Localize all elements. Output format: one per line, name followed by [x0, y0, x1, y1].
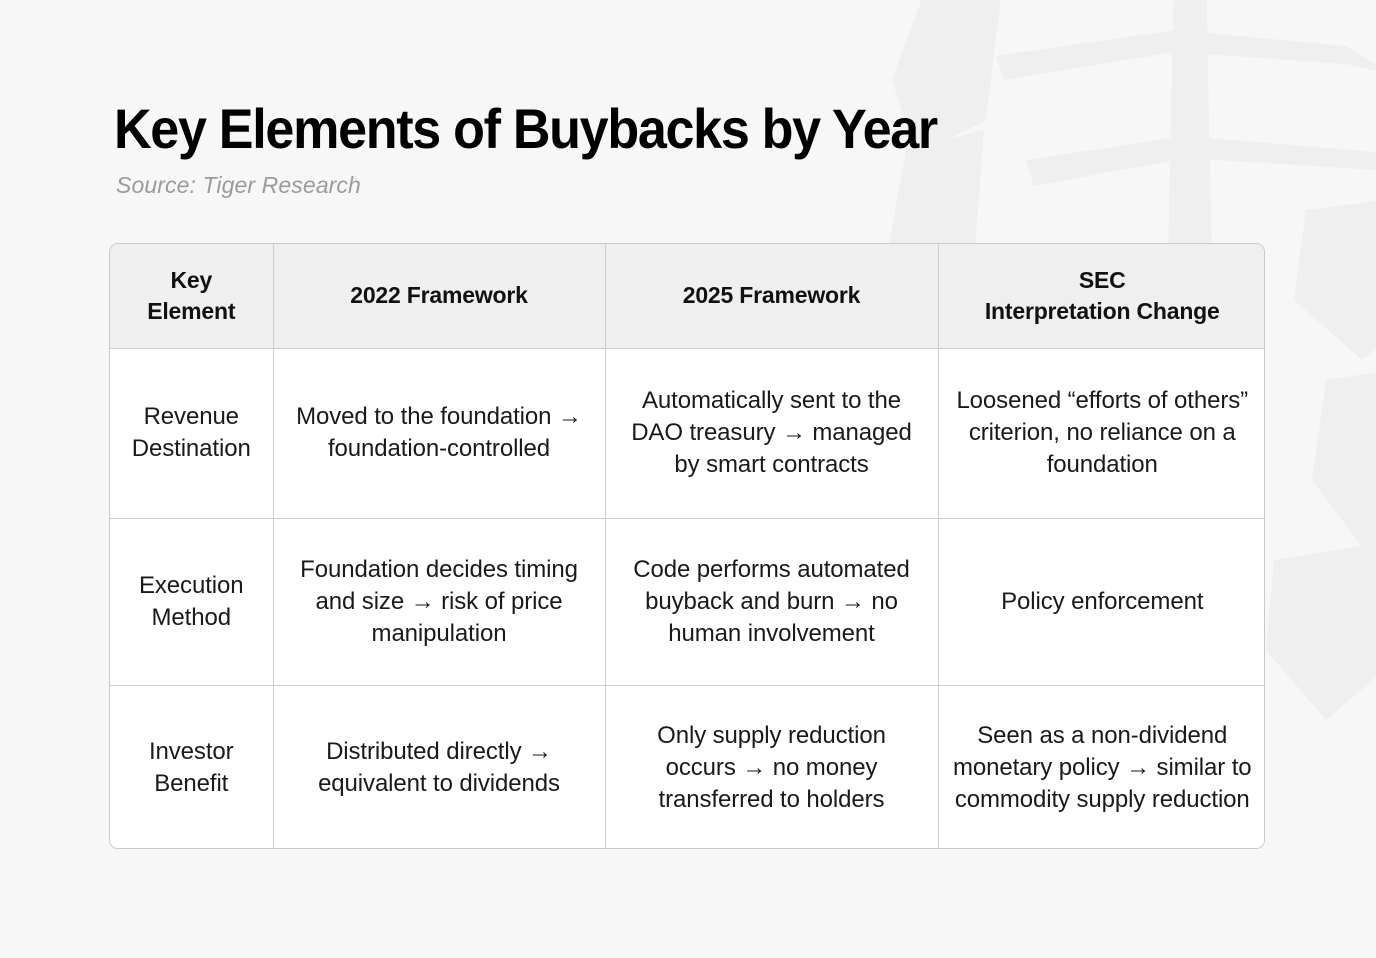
- cell-framework-2022: Foundation decides timing and size → ris…: [273, 518, 605, 685]
- page-title: Key Elements of Buybacks by Year: [114, 98, 1184, 160]
- cell-framework-2022: Moved to the foundation → foundation-con…: [273, 348, 605, 518]
- column-header-key-element-line2: Element: [147, 298, 235, 324]
- cell-key-element: Investor Benefit: [110, 685, 273, 849]
- table-row: Execution Method Foundation decides timi…: [110, 518, 1265, 685]
- cell-framework-2025: Code performs automated buyback and burn…: [605, 518, 938, 685]
- cell-framework-2025: Only supply reduction occurs → no money …: [605, 685, 938, 849]
- cell-sec-change: Loosened “efforts of others” criterion, …: [938, 348, 1265, 518]
- table-header: Key Element 2022 Framework 2025 Framewor…: [110, 244, 1265, 348]
- cell-framework-2025: Automatically sent to the DAO treasury →…: [605, 348, 938, 518]
- cell-key-element: Revenue Destination: [110, 348, 273, 518]
- cell-sec-change: Seen as a non-dividend monetary policy →…: [938, 685, 1265, 849]
- cell-key-element: Execution Method: [110, 518, 273, 685]
- table: Key Element 2022 Framework 2025 Framewor…: [110, 244, 1265, 849]
- column-header-framework-2022: 2022 Framework: [273, 244, 605, 348]
- title-block: Key Elements of Buybacks by Year Source:…: [114, 98, 1264, 199]
- table-row: Revenue Destination Moved to the foundat…: [110, 348, 1265, 518]
- table-row: Investor Benefit Distributed directly → …: [110, 685, 1265, 849]
- table-body: Revenue Destination Moved to the foundat…: [110, 348, 1265, 849]
- column-header-key-element: Key Element: [110, 244, 273, 348]
- column-header-framework-2025: 2025 Framework: [605, 244, 938, 348]
- column-header-sec-change-line1: SEC: [1079, 267, 1126, 293]
- comparison-table: Key Element 2022 Framework 2025 Framewor…: [109, 243, 1265, 849]
- page-source-label: Source: Tiger Research: [116, 172, 1264, 199]
- table-header-row: Key Element 2022 Framework 2025 Framewor…: [110, 244, 1265, 348]
- cell-sec-change: Policy enforcement: [938, 518, 1265, 685]
- column-header-key-element-line1: Key: [170, 267, 212, 293]
- column-header-sec-change: SEC Interpretation Change: [938, 244, 1265, 348]
- cell-framework-2022: Distributed directly → equivalent to div…: [273, 685, 605, 849]
- column-header-sec-change-line2: Interpretation Change: [985, 298, 1220, 324]
